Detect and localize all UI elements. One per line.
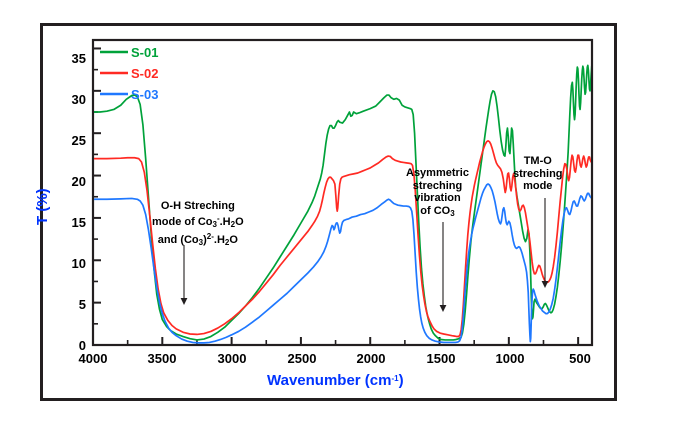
- legend-label-s01[interactable]: S-01: [131, 45, 158, 60]
- annotation-line: Asymmetric: [406, 167, 469, 180]
- annotation-oh-stretching-arrow-head: [181, 298, 188, 305]
- x-tick-label: 500: [550, 351, 610, 366]
- x-tick-label: 1000: [480, 351, 540, 366]
- y-tick-label: 10: [52, 256, 86, 271]
- annotation-line: mode: [513, 180, 563, 193]
- x-tick-label: 3000: [202, 351, 262, 366]
- annotation-line: streching: [513, 168, 563, 181]
- annotation-line: streching: [406, 180, 469, 193]
- annotation-line: TM-O: [513, 155, 563, 168]
- y-tick-label: 15: [52, 215, 86, 230]
- y-tick-label: 35: [52, 51, 86, 66]
- x-axis-title-main: Wavenumber (cm: [267, 372, 391, 389]
- ftir-spectrum-chart: [0, 0, 685, 432]
- x-tick-label: 4000: [63, 351, 123, 366]
- y-axis-title: T (%): [34, 188, 51, 225]
- annotation-asymmetric-co3: Asymmetric streching vibration of CO3: [406, 167, 469, 220]
- y-tick-label: 25: [52, 133, 86, 148]
- x-tick-label: 3500: [132, 351, 192, 366]
- annotation-oh-stretching: O-H Streching mode of Co3-.H2O and (Co3)…: [152, 200, 244, 250]
- annotation-tm-o: TM-O streching mode: [513, 155, 563, 193]
- legend-label-s02[interactable]: S-02: [131, 66, 158, 81]
- x-axis-title-exponent: -1: [391, 374, 398, 383]
- legend-label-s03[interactable]: S-03: [131, 87, 158, 102]
- annotation-line: and (Co3)2-.H2O: [152, 231, 244, 250]
- annotation-line: vibration: [406, 192, 469, 205]
- annotation-tm-o-arrow-head: [542, 281, 549, 288]
- x-tick-label: 2500: [272, 351, 332, 366]
- x-tick-label: 2000: [341, 351, 401, 366]
- annotation-line: mode of Co3-.H2O: [152, 213, 244, 232]
- figure-page: 0 5 10 15 20 25 30 35 4000 3500 3000 250…: [0, 0, 685, 432]
- annotation-line: O-H Streching: [152, 200, 244, 213]
- annotation-line: of CO3: [406, 205, 469, 221]
- y-tick-label: 5: [52, 297, 86, 312]
- legend: [100, 52, 128, 94]
- x-axis-title: Wavenumber (cm-1): [267, 372, 404, 389]
- y-tick-label: 30: [52, 92, 86, 107]
- x-axis-title-tail: ): [399, 372, 404, 389]
- y-tick-label: 20: [52, 174, 86, 189]
- x-tick-label: 1500: [411, 351, 471, 366]
- annotation-asymmetric-co3-arrow-head: [440, 305, 447, 312]
